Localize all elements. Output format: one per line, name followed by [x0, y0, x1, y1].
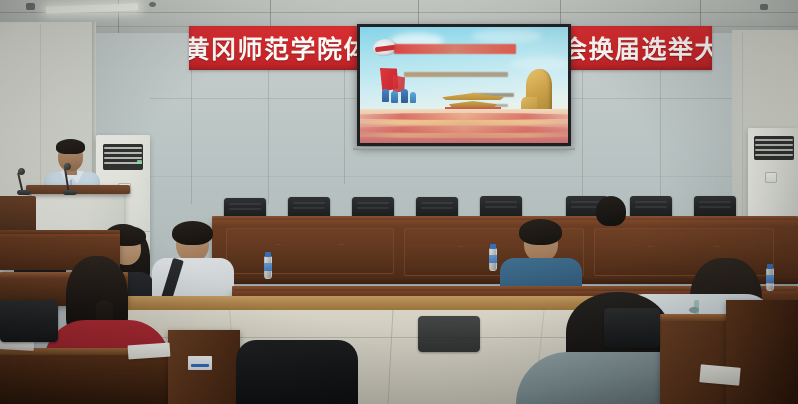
wave-decoration [360, 113, 568, 120]
wall-seam [150, 176, 740, 177]
screen-mount-rail [353, 147, 575, 150]
bench-label-sticker [188, 356, 212, 370]
side-wood-rail [0, 196, 36, 232]
bottle-cap [490, 244, 496, 249]
banner-left-text: 黄冈师范学院体 [189, 30, 364, 66]
ac-grille-icon [754, 136, 794, 160]
bottle-cap [265, 252, 271, 257]
gate-roof [442, 93, 504, 100]
wave-decoration [360, 126, 568, 133]
cartoon-figure [391, 91, 398, 103]
ceiling-vent-icon [760, 4, 768, 10]
banner-left-segment: 黄冈师范学院体 [189, 26, 364, 70]
empty-chair[interactable] [418, 316, 480, 352]
wave-decoration [360, 133, 568, 138]
microphone-base [63, 190, 77, 195]
banner-right-text: 会换届选举大会 [566, 30, 712, 66]
lectern-top-trim [26, 185, 130, 194]
conference-hall-photo: 黄冈师范学院体 会换届选举大会 [0, 0, 798, 404]
cloud-shape [472, 29, 542, 43]
attendee-dark-foreground [236, 340, 358, 404]
cartoon-figure [382, 89, 389, 102]
bench-end-panel [726, 300, 798, 404]
ac-grille-icon [103, 144, 143, 170]
microphone-icon [64, 163, 71, 170]
presentation-slide [360, 27, 568, 143]
microphone-base [17, 190, 31, 195]
attendee-hair [596, 196, 626, 226]
slide-title-text [394, 44, 516, 54]
bottle-label [766, 275, 774, 283]
bottle-label [264, 263, 272, 271]
banner-right-segment: 会换届选举大会 [566, 26, 712, 70]
slide-subtitle-text [404, 72, 508, 77]
document-paper[interactable] [699, 364, 740, 385]
cartoon-figure [401, 89, 408, 103]
bottle-cap [767, 264, 773, 269]
microphone-icon [18, 168, 25, 175]
ceiling-seam [0, 12, 798, 13]
attendee-hair [519, 219, 562, 245]
speaker-hair [56, 139, 85, 154]
smoke-detector-icon [149, 2, 156, 7]
ac-display-panel[interactable] [765, 172, 777, 183]
empty-chair[interactable] [0, 300, 58, 342]
ac-status-led [137, 160, 142, 164]
bottle-label [489, 255, 497, 263]
projection-screen [357, 24, 571, 146]
empty-chair[interactable] [604, 308, 660, 348]
wave-decoration [360, 120, 568, 125]
wall-seam [742, 32, 743, 232]
slide-ground [360, 109, 568, 143]
document-paper[interactable] [128, 343, 171, 360]
cartoon-figure [410, 92, 416, 103]
ceiling-speaker-icon [26, 3, 35, 10]
attendee-hair [172, 221, 213, 245]
